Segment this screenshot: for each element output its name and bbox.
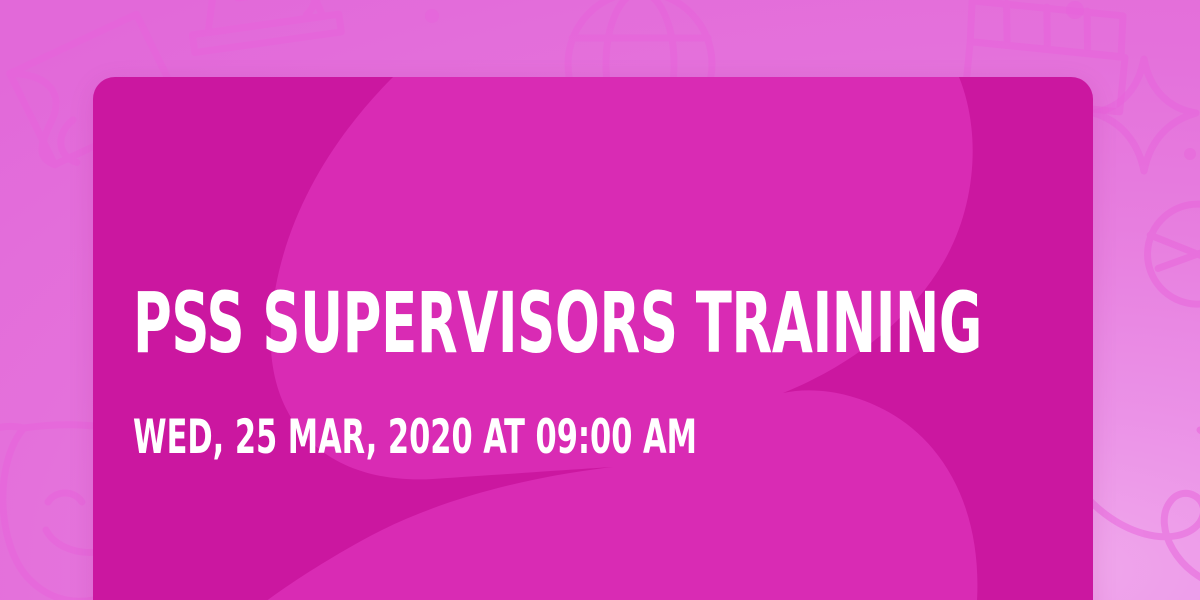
confetti-dot-icon xyxy=(1066,1,1084,19)
event-title: PSS SUPERVISORS TRAINING xyxy=(133,277,982,369)
event-card: PSS SUPERVISORS TRAINING WED, 25 MAR, 20… xyxy=(93,77,1093,600)
balloon-icon xyxy=(1133,190,1200,360)
confetti-dot-icon xyxy=(425,9,439,23)
event-date: WED, 25 MAR, 2020 AT 09:00 AM xyxy=(133,410,697,466)
confetti-dot-icon xyxy=(1184,148,1196,160)
sparkle-icon xyxy=(1094,59,1196,171)
event-banner: PSS SUPERVISORS TRAINING WED, 25 MAR, 20… xyxy=(0,0,1200,600)
laptop-icon xyxy=(184,0,341,53)
